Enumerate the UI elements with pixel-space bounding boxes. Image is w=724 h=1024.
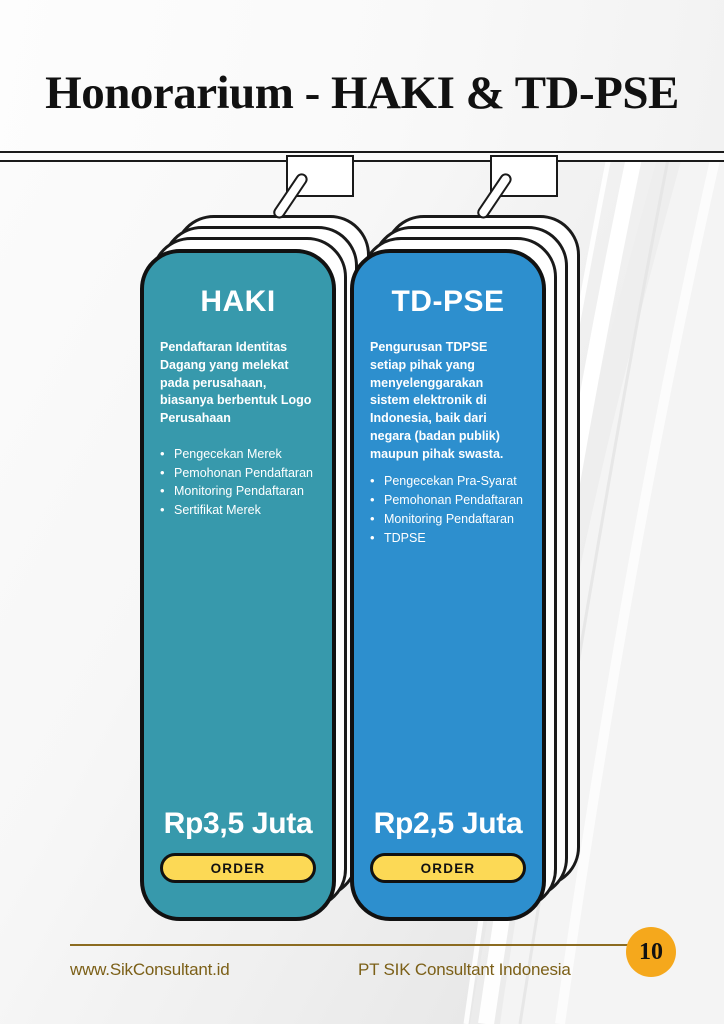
order-button-tdpse[interactable]: ORDER [370, 853, 526, 883]
list-item: Pengecekan Pra-Syarat [384, 473, 526, 491]
card-spacer [354, 548, 542, 807]
page-number-badge: 10 [626, 927, 676, 977]
hanger-rail [0, 151, 724, 162]
card-price-haki: Rp3,5 Juta [144, 807, 332, 841]
list-item: Pemohonan Pendaftaran [384, 492, 526, 510]
hook-icon [475, 171, 514, 221]
order-button-haki[interactable]: ORDER [160, 853, 316, 883]
service-card-haki[interactable]: HAKI Pendaftaran Identitas Dagang yang m… [140, 249, 336, 921]
hanger-tab-tdpse [490, 155, 558, 197]
list-item: Pemohonan Pendaftaran [174, 465, 316, 483]
footer-divider [70, 944, 654, 946]
card-spacer [144, 521, 332, 807]
card-group-haki: HAKI Pendaftaran Identitas Dagang yang m… [140, 215, 370, 915]
list-item: Pengecekan Merek [174, 446, 316, 464]
page-title: Honorarium - HAKI & TD-PSE [0, 66, 724, 120]
card-title-haki: HAKI [144, 287, 332, 317]
slide-canvas: Honorarium - HAKI & TD-PSE HAKI Pendafta… [0, 0, 724, 1024]
list-item: Monitoring Pendaftaran [384, 511, 526, 529]
list-item: Monitoring Pendaftaran [174, 483, 316, 501]
hanger-tab-haki [286, 155, 354, 197]
list-item: Sertifikat Merek [174, 502, 316, 520]
hook-icon [271, 171, 310, 221]
card-description-haki: Pendaftaran Identitas Dagang yang meleka… [160, 339, 316, 428]
footer-company-name: PT SIK Consultant Indonesia [358, 960, 658, 980]
card-title-tdpse: TD-PSE [354, 287, 542, 317]
card-feature-list-tdpse: Pengecekan Pra-Syarat Pemohonan Pendafta… [384, 473, 526, 548]
card-group-tdpse: TD-PSE Pengurusan TDPSE setiap pihak yan… [350, 215, 580, 915]
card-feature-list-haki: Pengecekan Merek Pemohonan Pendaftaran M… [174, 446, 316, 521]
footer-website[interactable]: www.SikConsultant.id [70, 960, 370, 980]
list-item: TDPSE [384, 530, 526, 548]
card-price-tdpse: Rp2,5 Juta [354, 807, 542, 841]
card-description-tdpse: Pengurusan TDPSE setiap pihak yang menye… [370, 339, 526, 463]
service-card-tdpse[interactable]: TD-PSE Pengurusan TDPSE setiap pihak yan… [350, 249, 546, 921]
